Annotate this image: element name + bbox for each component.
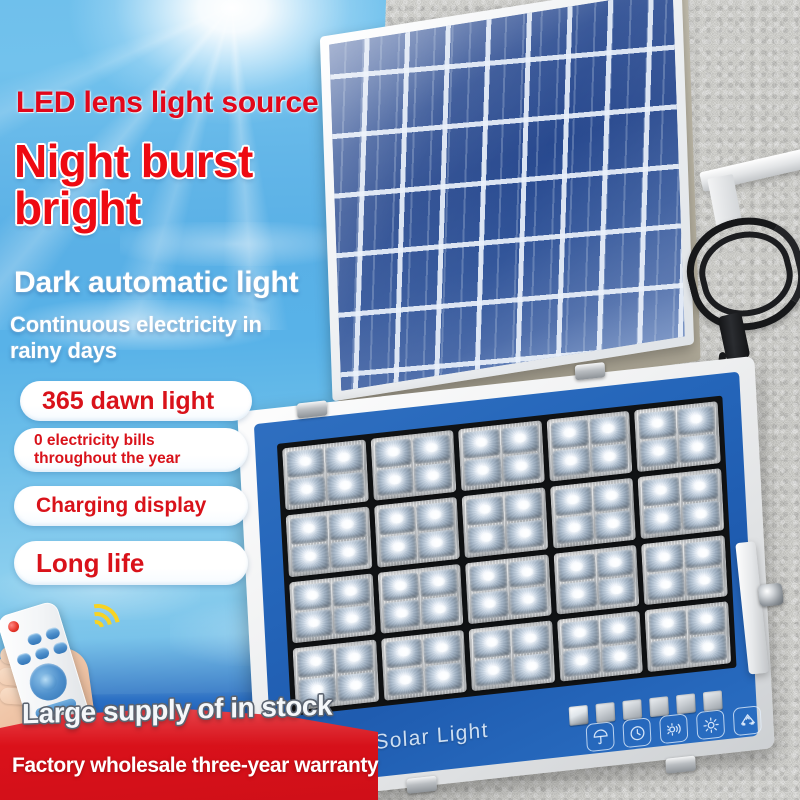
led-lens — [647, 571, 685, 601]
led-lens — [589, 415, 627, 445]
product-banner: Solar Light — [0, 0, 800, 800]
headline-night-burst: Night burst bright — [14, 138, 253, 232]
timer-icon — [622, 717, 651, 748]
badge-label: 0 electricity bills throughout the year — [34, 432, 180, 469]
led-module — [550, 477, 636, 548]
led-module — [374, 497, 460, 568]
led-lens — [551, 419, 589, 449]
remote-button — [52, 641, 69, 656]
led-lens — [471, 590, 509, 620]
led-module — [465, 554, 551, 625]
led-lens — [386, 667, 424, 697]
led-lens — [644, 504, 682, 534]
led-lens — [689, 634, 727, 664]
led-lens — [291, 543, 329, 573]
led-module — [634, 401, 720, 472]
led-lens — [425, 662, 463, 692]
led-lens — [646, 543, 684, 573]
led-lens — [596, 549, 634, 579]
led-lens — [513, 653, 551, 683]
led-module — [289, 573, 375, 644]
led-module — [645, 601, 731, 672]
remote-signal-icon — [82, 598, 138, 648]
led-module — [557, 611, 643, 682]
led-lens — [556, 514, 594, 544]
led-lens — [381, 572, 419, 602]
solar-panel-frame — [320, 0, 694, 401]
led-lens — [681, 472, 719, 502]
badge-charging-display: Charging display — [14, 486, 248, 526]
led-lens — [467, 524, 505, 554]
led-lens — [474, 657, 512, 687]
housing-clip — [665, 756, 696, 774]
led-lens — [559, 581, 597, 611]
led-lens — [293, 582, 331, 612]
led-lens — [288, 476, 326, 506]
light-sensor-icon — [659, 713, 688, 744]
led-lens — [473, 629, 511, 659]
led-module — [638, 468, 724, 539]
led-lens — [379, 533, 417, 563]
led-lens — [594, 510, 632, 540]
led-lens — [639, 410, 677, 440]
led-lens — [591, 443, 629, 473]
led-lens — [325, 444, 363, 474]
remote-power-button — [7, 620, 21, 634]
badge-label: Charging display — [36, 494, 206, 518]
led-lens — [682, 500, 720, 530]
led-lens — [385, 639, 423, 669]
led-lens — [383, 600, 421, 630]
charge-indicator — [703, 690, 723, 711]
headline-dark-automatic: Dark automatic light — [14, 266, 298, 300]
remote-button — [44, 626, 61, 641]
led-lens — [601, 643, 639, 673]
led-module — [546, 411, 632, 482]
charge-indicator — [622, 699, 642, 720]
led-lens — [413, 434, 451, 464]
led-module — [462, 487, 548, 558]
warranty-banner-text: Factory wholesale three-year warranty — [12, 754, 378, 778]
sun-icon — [696, 709, 725, 740]
led-lens — [688, 606, 726, 636]
led-lens — [414, 462, 452, 492]
led-lens — [593, 482, 631, 512]
signal-arc — [67, 595, 128, 656]
led-lens — [677, 406, 715, 436]
recycle-icon — [733, 705, 762, 736]
led-lens — [503, 453, 541, 483]
led-lens — [330, 538, 368, 568]
led-lens — [558, 553, 596, 583]
solar-cell-rows — [329, 0, 685, 391]
led-lens — [286, 448, 324, 478]
charge-indicator — [649, 696, 669, 717]
led-lens — [420, 568, 458, 598]
led-lens — [290, 515, 328, 545]
led-lens — [642, 476, 680, 506]
led-lens — [423, 635, 461, 665]
housing-clip — [406, 776, 437, 794]
remote-button — [26, 632, 43, 647]
led-lens — [649, 610, 687, 640]
led-lens — [554, 486, 592, 516]
led-lens — [335, 644, 373, 674]
led-module — [553, 544, 639, 615]
led-lens — [512, 625, 550, 655]
led-lens — [505, 491, 543, 521]
led-module — [370, 430, 456, 501]
led-lens — [416, 501, 454, 531]
led-lens — [466, 496, 504, 526]
led-lens — [337, 672, 375, 702]
led-lens — [378, 505, 416, 535]
led-module — [377, 563, 463, 634]
solar-panel-cells — [329, 0, 685, 391]
badge-long-life: Long life — [14, 541, 248, 585]
remote-button-row — [16, 641, 69, 667]
led-lens — [508, 558, 546, 588]
device-brand-label: Solar Light — [374, 719, 489, 755]
charge-indicator — [676, 693, 696, 714]
led-lens — [506, 519, 544, 549]
led-lens — [552, 447, 590, 477]
remote-button — [16, 652, 33, 667]
led-lens — [679, 433, 717, 463]
led-lens — [333, 605, 371, 635]
led-lens — [297, 648, 335, 678]
led-lens — [326, 472, 364, 502]
led-lens — [510, 586, 548, 616]
led-lens — [686, 567, 724, 597]
led-module — [641, 535, 727, 606]
headline-rainy-days: Continuous electricity in rainy days — [10, 312, 262, 364]
waterproof-icon — [586, 721, 615, 752]
led-lens — [295, 609, 333, 639]
led-module — [469, 621, 555, 692]
badge-label: 365 dawn light — [42, 387, 214, 416]
led-lens — [563, 647, 601, 677]
led-lens — [328, 511, 366, 541]
led-module — [458, 420, 544, 491]
led-module — [282, 439, 368, 510]
led-lens — [469, 562, 507, 592]
led-lens — [640, 438, 678, 468]
housing-clip — [575, 362, 606, 380]
badge-zero-bills: 0 electricity bills throughout the year — [14, 428, 248, 472]
led-lens — [376, 466, 414, 496]
led-module-grid — [277, 396, 737, 716]
led-lens — [464, 457, 502, 487]
led-lens — [651, 638, 689, 668]
charge-indicator — [595, 702, 615, 723]
led-lens — [332, 577, 370, 607]
charge-indicator — [569, 705, 589, 726]
led-lens — [374, 438, 412, 468]
led-lens — [421, 596, 459, 626]
led-lens — [462, 429, 500, 459]
badge-dawn-light: 365 dawn light — [20, 381, 252, 421]
bracket-bolt — [758, 583, 784, 607]
led-module — [286, 506, 372, 577]
headline-led-lens: LED lens light source — [16, 86, 319, 120]
led-lens — [501, 425, 539, 455]
badge-label: Long life — [36, 548, 144, 579]
led-lens — [598, 577, 636, 607]
led-lens — [600, 615, 638, 645]
led-module — [381, 630, 467, 701]
led-lens — [684, 539, 722, 569]
led-lens — [418, 529, 456, 559]
remote-button — [34, 646, 51, 661]
led-lens — [561, 620, 599, 650]
